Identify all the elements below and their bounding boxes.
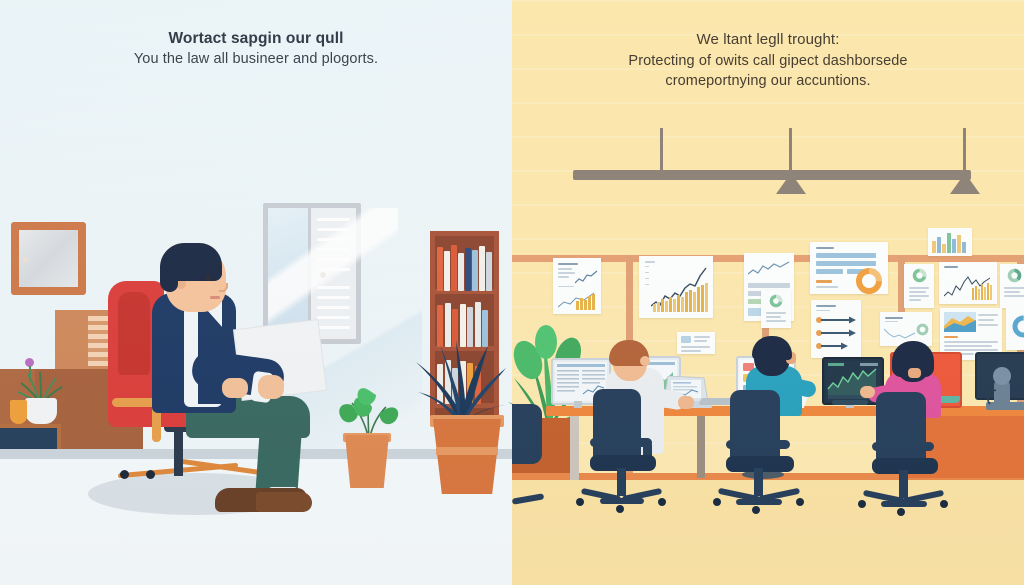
office-chair-partial [512, 404, 542, 464]
office-chair-1-post [617, 468, 626, 496]
poster-donut-teal [1000, 264, 1024, 308]
chair-wheel [858, 500, 866, 508]
office-chair-3-leg [881, 501, 927, 507]
chair-wheel [713, 498, 721, 506]
person-shoe-front [256, 492, 312, 512]
worker-1-face [640, 356, 650, 366]
office-chair-3-post [899, 470, 908, 498]
monitor-stand [574, 401, 582, 408]
office-chair-1-leg [600, 498, 644, 504]
poster-donut-green [904, 264, 934, 308]
chair-backrest-inner [118, 292, 150, 380]
small-terracotta-pot [345, 435, 389, 488]
poster-table-donut [810, 242, 888, 294]
office-chair-2-arm [726, 440, 790, 449]
chair-wheel [616, 505, 624, 513]
chair-wheel [897, 508, 905, 516]
poster-ring-blue [1006, 308, 1024, 350]
poster-arrows [811, 300, 861, 358]
monitor-arm [984, 360, 1024, 410]
orange-plant-pot [10, 400, 27, 424]
white-plant-pot [25, 398, 57, 424]
right-heading-line3: cromeportnying our accuntions. [512, 71, 1024, 91]
office-chair-2-post [754, 468, 763, 496]
office-chair-3-arm [872, 442, 934, 451]
person-mouth [210, 296, 220, 299]
illustration-canvas: Wortact sapgin our qull You the law all … [0, 0, 1024, 585]
right-heading-title: We ltant legll trought: [512, 30, 1024, 51]
worker-3-hand [860, 386, 875, 398]
window-glass [268, 208, 308, 339]
large-pot-band [436, 447, 498, 455]
window-latch-icon [320, 272, 326, 278]
poster-small-donut [761, 290, 791, 328]
right-heading-line2: Protecting of owits call gipect dashbors… [512, 51, 1024, 71]
chair-wheel [576, 498, 584, 506]
chair-wheel [658, 498, 666, 506]
chair-wheel [940, 500, 948, 508]
office-chair-2-back [730, 390, 780, 466]
chair-post [174, 430, 183, 476]
desk-leg [570, 416, 579, 480]
poster-badge-small [677, 332, 715, 354]
pendant-rod [660, 128, 663, 172]
cabinet-knob-icon [23, 257, 28, 262]
left-heading-subtitle: You the law all busineer and plogorts. [0, 49, 512, 69]
person-hand-right [258, 375, 284, 399]
poster-trend-large [639, 256, 713, 318]
person-hair-side [160, 258, 178, 292]
window-blinds [311, 208, 356, 339]
left-heading-block: Wortact sapgin our qull You the law all … [0, 28, 512, 69]
chair-wheel [796, 498, 804, 506]
chair-caster [120, 470, 129, 479]
desk-leg [697, 416, 705, 478]
person-nose [219, 283, 228, 292]
left-panel-law-office: Wortact sapgin our qull You the law all … [0, 0, 512, 585]
poster-bar-chart [928, 228, 972, 256]
pendant-light-bar [573, 170, 971, 180]
poster-report-1 [553, 258, 601, 314]
person-hand-left [222, 378, 248, 398]
worker-3-neck [908, 368, 921, 378]
chair-wheel [752, 506, 760, 514]
large-terracotta-pot [433, 419, 501, 494]
worker-1-hand [678, 396, 694, 409]
left-heading-title: Wortact sapgin our qull [0, 28, 512, 49]
wall-cabinet [11, 222, 86, 295]
poster-peak-line [939, 262, 997, 304]
tall-leaf-plant [400, 300, 512, 425]
pendant-rod [963, 128, 966, 172]
pendant-rod [789, 128, 792, 172]
person-eye [206, 275, 211, 281]
right-heading-block: We ltant legll trought: Protecting of ow… [512, 30, 1024, 91]
office-chair-3-back [876, 392, 926, 468]
chair-caster [146, 470, 155, 479]
monitor-foot [832, 400, 868, 405]
office-chair-2-leg [736, 499, 782, 505]
monstera-plant [330, 375, 408, 441]
